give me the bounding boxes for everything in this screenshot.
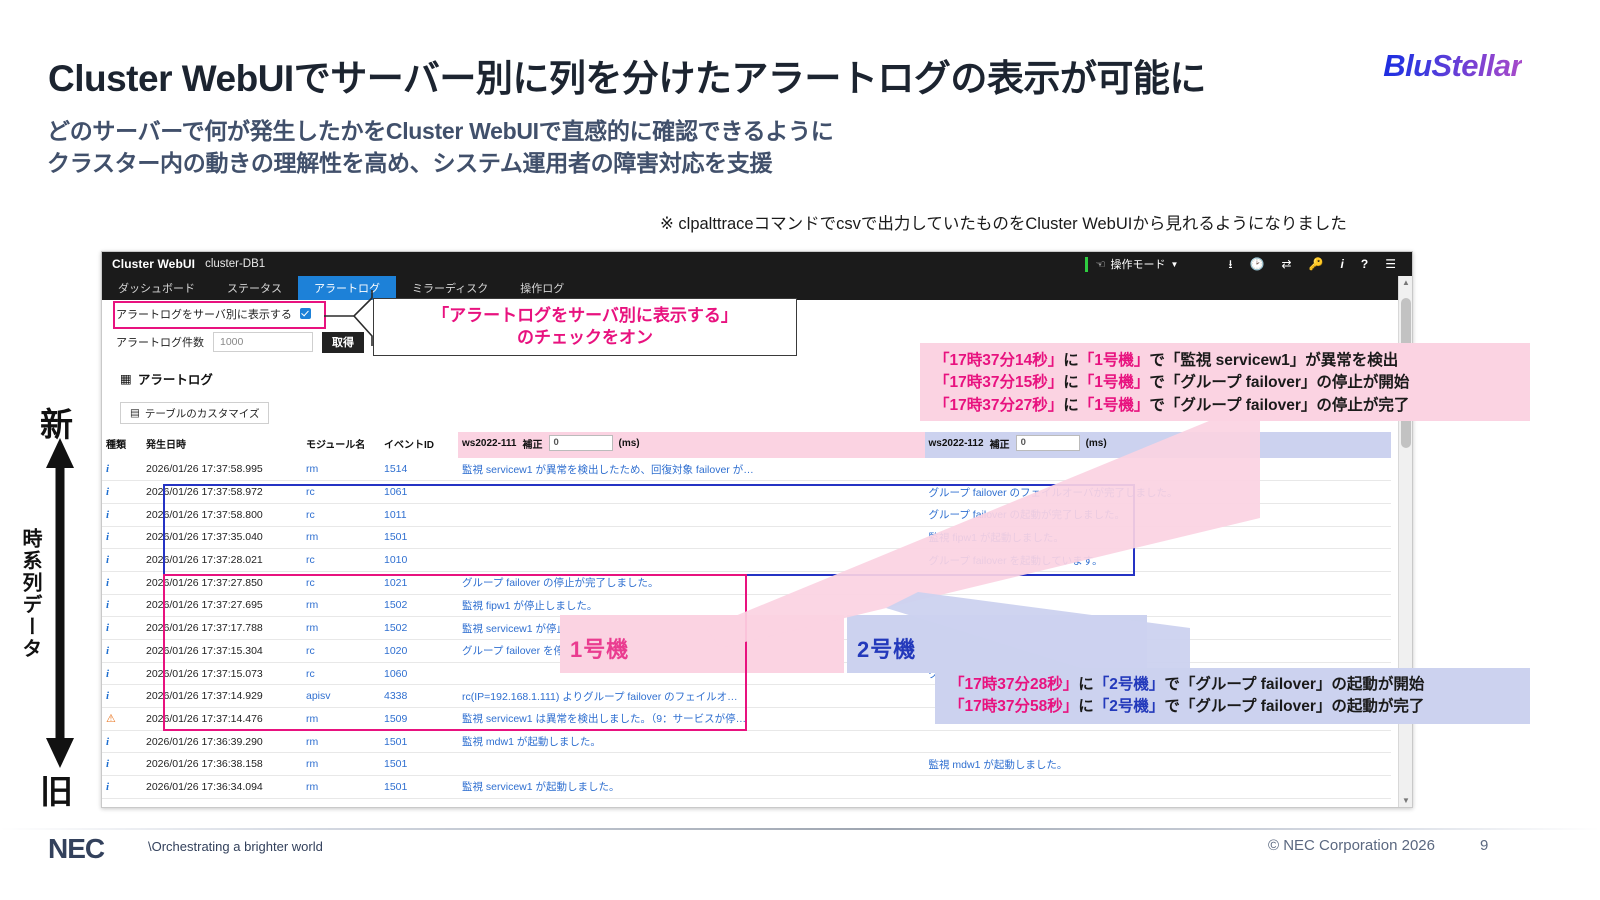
tab-operationlog[interactable]: 操作ログ	[504, 276, 580, 300]
checkbox-callout: 「アラートログをサーバ別に表示する」 のチェックをオン	[373, 298, 797, 356]
row-module: rm	[302, 776, 380, 799]
table-row[interactable]: i2026/01/26 17:36:34.094rm1501監視 service…	[102, 776, 1391, 799]
row-module: rm	[302, 730, 380, 753]
row-info-icon: i	[102, 549, 142, 572]
row-event-id: 1514	[380, 458, 458, 481]
pink-line1-tail: で「監視 servicew1」が異常を検出	[1149, 352, 1398, 369]
pink-line2-server: 「1号機」	[1079, 374, 1150, 391]
pink-callout-line: 「17時37分15秒」に「1号機」で「グループ failover」の停止が開始	[934, 372, 1516, 394]
col-header-eventid[interactable]: イベントID	[380, 432, 458, 458]
col-header-type[interactable]: 種類	[102, 432, 142, 458]
blue-callout-line: 「17時37分58秒」に「2号機」で「グループ failover」の起動が完了	[949, 696, 1516, 718]
key-icon[interactable]: 🔑	[1309, 258, 1324, 270]
server1-host: ws2022-111	[462, 438, 517, 449]
pink-line2-tail: で「グループ failover」の停止が開始	[1149, 374, 1409, 391]
row-info-icon: i	[102, 481, 142, 504]
row-info-icon: i	[102, 685, 142, 708]
subtitle-line-2: クラスター内の動きの理解性を高め、システム運用者の障害対応を支援	[47, 148, 833, 180]
customize-table-label: テーブルのカスタマイズ	[145, 406, 260, 421]
blue-line1-tail: で「グループ failover」の起動が開始	[1164, 676, 1424, 693]
blue-line2-mid: に	[1078, 698, 1094, 715]
pink-line3-server: 「1号機」	[1079, 397, 1150, 414]
table-icon: ▦	[120, 371, 132, 386]
table-row[interactable]: i2026/01/26 17:36:39.290rm1501監視 mdw1 が起…	[102, 730, 1391, 753]
row-info-icon: i	[102, 753, 142, 776]
blue-line2-time: 「17時37分58秒」	[949, 698, 1078, 715]
operation-mode-button[interactable]: ☜ 操作モード ▼	[1096, 256, 1189, 272]
row-info-icon: i	[102, 458, 142, 481]
blue-line1-mid: に	[1078, 676, 1094, 693]
row-date: 2026/01/26 17:36:38.158	[142, 753, 302, 776]
row-info-icon: i	[102, 571, 142, 594]
row-warning-icon: ⚠	[102, 708, 142, 731]
row-date: 2026/01/26 17:37:58.995	[142, 458, 302, 481]
mode-divider	[1085, 257, 1088, 272]
help-icon[interactable]: ?	[1361, 258, 1368, 270]
blustellar-logo: BluStellar	[1383, 48, 1522, 84]
slide-root: Cluster WebUIでサーバー別に列を分けたアラートログの表示が可能に B…	[0, 0, 1600, 900]
scroll-down-icon[interactable]: ▼	[1402, 796, 1410, 805]
blue-line1-time: 「17時37分28秒」	[949, 676, 1078, 693]
row-message-server2	[925, 776, 1392, 799]
checkbox-callout-line-1: 「アラートログをサーバ別に表示する」	[432, 305, 738, 327]
alertlog-panel-title-label: アラートログ	[138, 369, 213, 388]
clock-icon[interactable]: 🕑	[1250, 258, 1265, 270]
row-date: 2026/01/26 17:36:34.094	[142, 776, 302, 799]
col-header-module[interactable]: モジュール名	[302, 432, 380, 458]
blue-line1-server: 「2号機」	[1094, 676, 1165, 693]
row-message-server2: 監視 mdw1 が起動しました。	[925, 753, 1392, 776]
blue-line2-tail: で「グループ failover」の起動が完了	[1164, 698, 1424, 715]
blue-line2-server: 「2号機」	[1094, 698, 1165, 715]
page-title: Cluster WebUIでサーバー別に列を分けたアラートログの表示が可能に	[48, 48, 1206, 102]
tab-status[interactable]: ステータス	[211, 276, 298, 300]
row-event-id: 1501	[380, 776, 458, 799]
app-titlebar: Cluster WebUI cluster-DB1 ☜ 操作モード ▼ ⭳ 🕑 …	[102, 252, 1412, 276]
info-icon[interactable]: i	[1341, 258, 1344, 270]
pink-line1-server: 「1号機」	[1079, 352, 1150, 369]
refresh-icon[interactable]: ⇄	[1282, 258, 1292, 270]
columns-icon: ▤	[130, 407, 140, 419]
row-date: 2026/01/26 17:36:39.290	[142, 730, 302, 753]
footer-divider	[0, 828, 1600, 830]
page-subtitle: どのサーバーで何が発生したかをCluster WebUIで直感的に確認できるよう…	[47, 116, 833, 179]
row-info-icon: i	[102, 526, 142, 549]
nec-logo: NEC	[48, 833, 104, 865]
tab-mirrordisk[interactable]: ミラーディスク	[396, 276, 504, 300]
subtitle-line-1: どのサーバーで何が発生したかをCluster WebUIで直感的に確認できるよう…	[47, 116, 833, 148]
pink-line2-time: 「17時37分15秒」	[934, 374, 1063, 391]
timeline-arrow-icon	[46, 438, 74, 768]
row-info-icon: i	[102, 503, 142, 526]
table-row[interactable]: i2026/01/26 17:36:38.158rm1501監視 mdw1 が起…	[102, 753, 1391, 776]
row-message-server1	[458, 753, 925, 776]
highlight-checkbox-box	[113, 301, 326, 329]
download-icon[interactable]: ⭳	[1228, 258, 1232, 270]
footnote: ※ clpalttraceコマンドでcsvで出力していたものをCluster W…	[660, 210, 1347, 234]
customize-table-button[interactable]: ▤ テーブルのカスタマイズ	[120, 402, 269, 424]
app-brand: Cluster WebUI	[112, 257, 195, 271]
row-message-server1: 監視 mdw1 が起動しました。	[458, 730, 925, 753]
row-info-icon: i	[102, 640, 142, 663]
row-info-icon: i	[102, 594, 142, 617]
pink-line1-time: 「17時37分14秒」	[934, 352, 1063, 369]
blue-callout-line: 「17時37分28秒」に「2号機」で「グループ failover」の起動が開始	[949, 674, 1516, 696]
server1-adjust-input[interactable]: 0	[549, 435, 613, 451]
highlight-server1-rows-box	[163, 574, 747, 731]
pink-annotation-callout: 「17時37分14秒」に「1号機」で「監視 servicew1」が異常を検出 「…	[920, 343, 1530, 421]
hand-icon: ☜	[1096, 258, 1106, 271]
row-message-server2	[925, 730, 1392, 753]
page-number: 9	[1480, 837, 1488, 854]
nec-tagline: \Orchestrating a brighter world	[148, 839, 323, 854]
row-info-icon: i	[102, 776, 142, 799]
row-info-icon: i	[102, 617, 142, 640]
checkbox-callout-line-2: のチェックをオン	[517, 327, 653, 349]
menu-icon[interactable]: ☰	[1385, 258, 1396, 270]
copyright-text: © NEC Corporation 2026	[1268, 837, 1435, 854]
alertlog-count-label: アラートログ件数	[116, 334, 204, 350]
row-info-icon: i	[102, 730, 142, 753]
server1-adjust-label: 補正	[523, 436, 543, 451]
blue-annotation-callout: 「17時37分28秒」に「2号機」で「グループ failover」の起動が開始 …	[935, 668, 1530, 724]
cluster-name: cluster-DB1	[205, 258, 265, 270]
axis-label-timeseries: 時系列データ	[16, 528, 45, 660]
nav-tabs: ダッシュボード ステータス アラートログ ミラーディスク 操作ログ	[102, 276, 1412, 300]
row-event-id: 1501	[380, 730, 458, 753]
pink-line3-time: 「17時37分27秒」	[934, 397, 1063, 414]
row-info-icon: i	[102, 662, 142, 685]
operation-mode-label: 操作モード	[1110, 256, 1165, 272]
alertlog-count-input[interactable]: 1000	[213, 332, 313, 352]
titlebar-right: ☜ 操作モード ▼ ⭳ 🕑 ⇄ 🔑 i ? ☰	[1085, 252, 1412, 276]
row-module: rm	[302, 458, 380, 481]
pink-line2-mid: に	[1063, 374, 1079, 391]
col-header-date[interactable]: 発生日時	[142, 432, 302, 458]
row-event-id: 1501	[380, 753, 458, 776]
pink-line3-mid: に	[1063, 397, 1079, 414]
scroll-up-icon[interactable]: ▲	[1402, 278, 1410, 287]
pink-callout-line: 「17時37分27秒」に「1号機」で「グループ failover」の停止が完了	[934, 395, 1516, 417]
pink-line3-tail: で「グループ failover」の停止が完了	[1149, 397, 1409, 414]
row-module: rm	[302, 753, 380, 776]
titlebar-icons: ⭳ 🕑 ⇄ 🔑 i ? ☰	[1188, 258, 1412, 270]
pink-callout-line: 「17時37分14秒」に「1号機」で「監視 servicew1」が異常を検出	[934, 350, 1516, 372]
axis-label-old: 旧	[40, 765, 73, 813]
tab-dashboard[interactable]: ダッシュボード	[102, 276, 211, 300]
pink-line1-mid: に	[1063, 352, 1079, 369]
row-message-server1: 監視 servicew1 が起動しました。	[458, 776, 925, 799]
server1-adjust-unit: (ms)	[619, 438, 640, 449]
chevron-down-icon: ▼	[1170, 260, 1178, 269]
